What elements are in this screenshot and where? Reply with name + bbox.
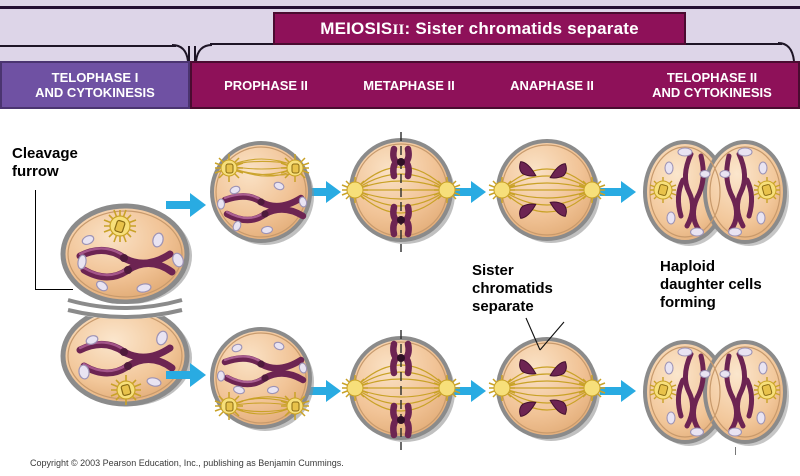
phase-label-row: TELOPHASE I AND CYTOKINESIS PROPHASE II … — [0, 61, 800, 109]
cell-anaphase-2-top — [489, 134, 607, 254]
centrosome-icon — [281, 154, 309, 182]
phase-label-prophase-2[interactable]: PROPHASE II — [196, 61, 336, 109]
cell-prophase-2-top — [207, 138, 319, 250]
leader-cleavage-furrow-vertical — [35, 190, 36, 290]
cell-metaphase-2-bottom — [343, 330, 463, 454]
header-top-rule — [0, 6, 800, 9]
phase-label-telophase-1-line1: TELOPHASE I — [35, 70, 155, 85]
phase-label-telophase-1-line2: AND CYTOKINESIS — [35, 85, 155, 100]
centrosome-icon — [281, 392, 309, 420]
bracket-mid-left — [210, 43, 276, 45]
centrosome-icon — [215, 392, 243, 420]
label-sister-chromatids-separate: Sister chromatids separate — [472, 262, 553, 316]
cell-metaphase-2-top — [343, 132, 463, 256]
meiosis-ii-banner: MEIOSISII: Sister chromatids separate — [273, 12, 686, 45]
label-haploid-daughter-cells: Haploid daughter cells forming — [660, 258, 762, 312]
diagram-canvas: MEIOSISII: Sister chromatids separate TE… — [0, 0, 800, 476]
cell-telophase-2-top — [645, 134, 793, 252]
cell-prophase-2-bottom — [207, 320, 319, 438]
phase-label-anaphase-2[interactable]: ANAPHASE II — [482, 61, 622, 109]
centrosome-icon — [215, 154, 243, 182]
leader-sister-chromatids — [524, 316, 570, 358]
phase-label-telophase-2-line2: AND CYTOKINESIS — [652, 85, 772, 100]
copyright-text: Copyright © 2003 Pearson Education, Inc.… — [30, 458, 344, 468]
bracket-mid-right — [684, 43, 782, 45]
footer-tick — [735, 447, 736, 455]
arrow-to-prophase-2-top — [166, 190, 208, 220]
cell-telophase-2-bottom — [645, 334, 793, 452]
phase-label-telophase-2[interactable]: TELOPHASE II AND CYTOKINESIS — [626, 61, 798, 109]
bracket-left-segment — [0, 45, 176, 47]
phase-label-telophase-2-line1: TELOPHASE II — [652, 70, 772, 85]
arrow-to-prophase-2-bottom — [166, 360, 208, 390]
label-cleavage-furrow: Cleavage furrow — [12, 145, 78, 181]
meiosis-banner-text: MEIOSISII: Sister chromatids separate — [320, 19, 639, 39]
phase-label-metaphase-2[interactable]: METAPHASE II — [336, 61, 482, 109]
phase-band-telophase-1[interactable]: TELOPHASE I AND CYTOKINESIS — [0, 61, 190, 109]
